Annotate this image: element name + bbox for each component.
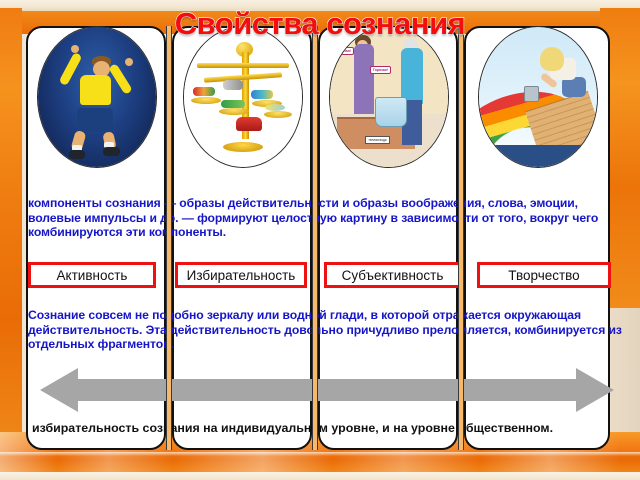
card-seam-2 bbox=[312, 26, 318, 450]
page-title: Свойства сознания bbox=[0, 6, 640, 42]
speech-bubble-left: Ледяная! bbox=[332, 47, 353, 55]
illustration-boy-jumping bbox=[37, 26, 157, 168]
bottom-caption: избирательность сознания на индивидуальн… bbox=[32, 421, 624, 436]
slide-canvas: Ледяная! Горячая! теплая вода Свойства с… bbox=[0, 0, 640, 480]
background-bottom-highlight bbox=[0, 452, 640, 456]
bucket-label: теплая вода bbox=[365, 136, 389, 144]
property-box-subjectivity[interactable]: Субъективность bbox=[324, 262, 461, 288]
paragraph-components: компоненты сознания — образы действитель… bbox=[28, 196, 624, 240]
water-bucket-icon: Ледяная! Горячая! теплая вода bbox=[330, 27, 448, 167]
card-seam-1 bbox=[166, 26, 172, 450]
illustration-girl-painting-rainbow bbox=[478, 26, 598, 168]
scales-icon bbox=[184, 27, 302, 167]
property-box-activity[interactable]: Активность bbox=[28, 262, 156, 288]
paragraph-mirror: Сознание совсем не подобно зеркалу или в… bbox=[28, 308, 624, 352]
rainbow-icon bbox=[479, 27, 597, 167]
illustration-golden-scales bbox=[183, 26, 303, 168]
card-seam-3 bbox=[458, 26, 464, 450]
property-box-selectivity[interactable]: Избирательность bbox=[175, 262, 307, 288]
background-orange-left-bar bbox=[0, 8, 22, 454]
property-box-creativity[interactable]: Творчество bbox=[477, 262, 611, 288]
double-headed-arrow-icon bbox=[40, 367, 614, 413]
speech-bubble-right: Горячая! bbox=[370, 66, 391, 74]
boy-jumping-icon bbox=[38, 27, 156, 167]
background-bottom-white-strip bbox=[0, 472, 640, 480]
illustration-water-bucket: Ледяная! Горячая! теплая вода bbox=[329, 26, 449, 168]
